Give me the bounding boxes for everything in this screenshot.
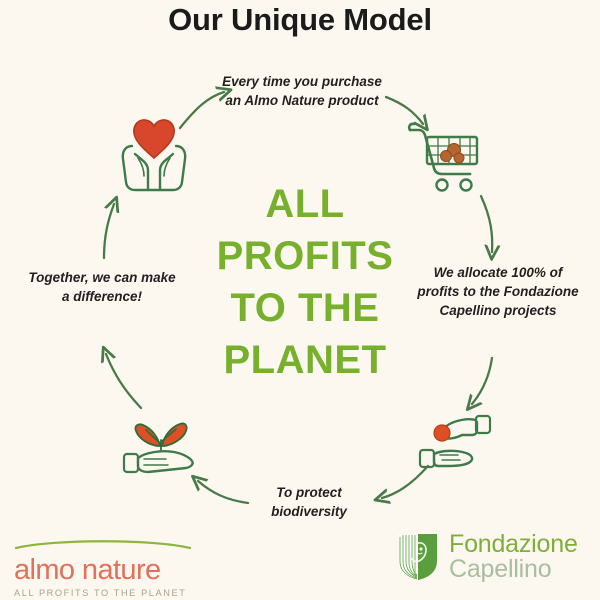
arrow-sprout-to-together [106,354,141,408]
fondazione-line-1: Fondazione [449,532,578,557]
arrow-allocate-to-hands [472,358,492,404]
giving-hands-icon [412,404,500,485]
hands-holding-heart-icon [108,112,200,201]
infographic-canvas: Our Unique Model ALL PROFITS TO THE PLAN… [0,0,600,600]
caption-allocate: We allocate 100% of profits to the Fonda… [412,263,584,320]
sprout-in-hand-icon [118,404,204,485]
arrow-cart-to-allocate [481,196,492,252]
headline-line-4: PLANET [180,334,430,386]
fondazione-shield-icon [396,531,440,583]
fondazione-capellino-logo: Fondazione Capellino [396,531,578,583]
headline-line-3: TO THE [180,282,430,334]
headline-line-2: PROFITS [180,230,430,282]
almo-nature-logo: almo nature ALL PROFITS TO THE PLANET [14,536,194,598]
almo-arc-icon [14,539,192,549]
almo-nature-tagline: ALL PROFITS TO THE PLANET [14,588,194,598]
shopping-cart-icon [404,118,488,199]
page-title: Our Unique Model [0,2,600,38]
center-headline: ALL PROFITS TO THE PLANET [180,178,430,386]
headline-line-1: ALL [180,178,430,230]
caption-together: Together, we can make a difference! [28,268,176,306]
caption-biodiversity: To protect biodiversity [238,483,380,521]
almo-nature-wordmark: almo nature [14,555,194,585]
fondazione-line-2: Capellino [449,557,578,582]
arrow-together-to-heart [104,204,114,258]
caption-purchase: Every time you purchase an Almo Nature p… [222,72,382,110]
